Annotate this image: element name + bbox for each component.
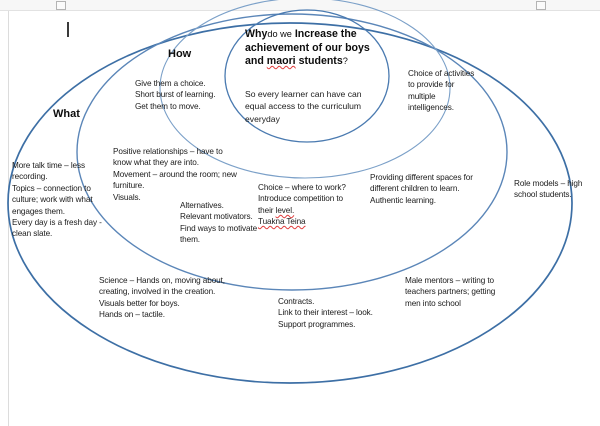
center-title-qmark: ? (343, 56, 348, 66)
block-how-details: Give them a choice. Short burst of learn… (135, 78, 239, 112)
choice-misspelled-tuakana-teina: Tuakna Teina (258, 217, 306, 226)
block-more-talk-time: More talk time – less recording. Topics … (12, 160, 114, 240)
block-providing-different-spaces: Providing different spaces for different… (370, 172, 474, 206)
concept-map-page: Whydo we Increase the achievement of our… (0, 0, 600, 426)
choice-misspelled-level: level. (276, 206, 295, 215)
block-male-mentors: Male mentors – writing to teachers partn… (405, 275, 501, 309)
center-subtitle: So every learner can have can equal acce… (245, 88, 373, 125)
block-science-hands-on: Science – Hands on, moving about, creati… (99, 275, 225, 321)
heading-what: What (53, 108, 80, 120)
center-title-students: students (296, 55, 343, 67)
block-role-models: Role models – high school students. (514, 178, 584, 201)
block-choice-where-to-work: Choice – where to work?Introduce competi… (258, 182, 354, 228)
center-title-why: Why (245, 28, 267, 40)
heading-how: How (168, 48, 191, 60)
center-title-maori: maori (267, 55, 296, 67)
block-alternatives: Alternatives. Relevant motivators. Find … (180, 200, 260, 246)
choice-line1: Choice – where to work? (258, 183, 346, 192)
choice-line2: Introduce competition to their (258, 194, 343, 214)
block-choice-of-activities: Choice of activities to provide for mult… (408, 68, 478, 114)
center-title: Whydo we Increase the achievement of our… (245, 28, 380, 69)
center-title-dowe: do we (267, 29, 292, 39)
block-contracts: Contracts. Link to their interest – look… (278, 296, 378, 330)
block-positive-relationships: Positive relationships – have to know wh… (113, 146, 237, 203)
